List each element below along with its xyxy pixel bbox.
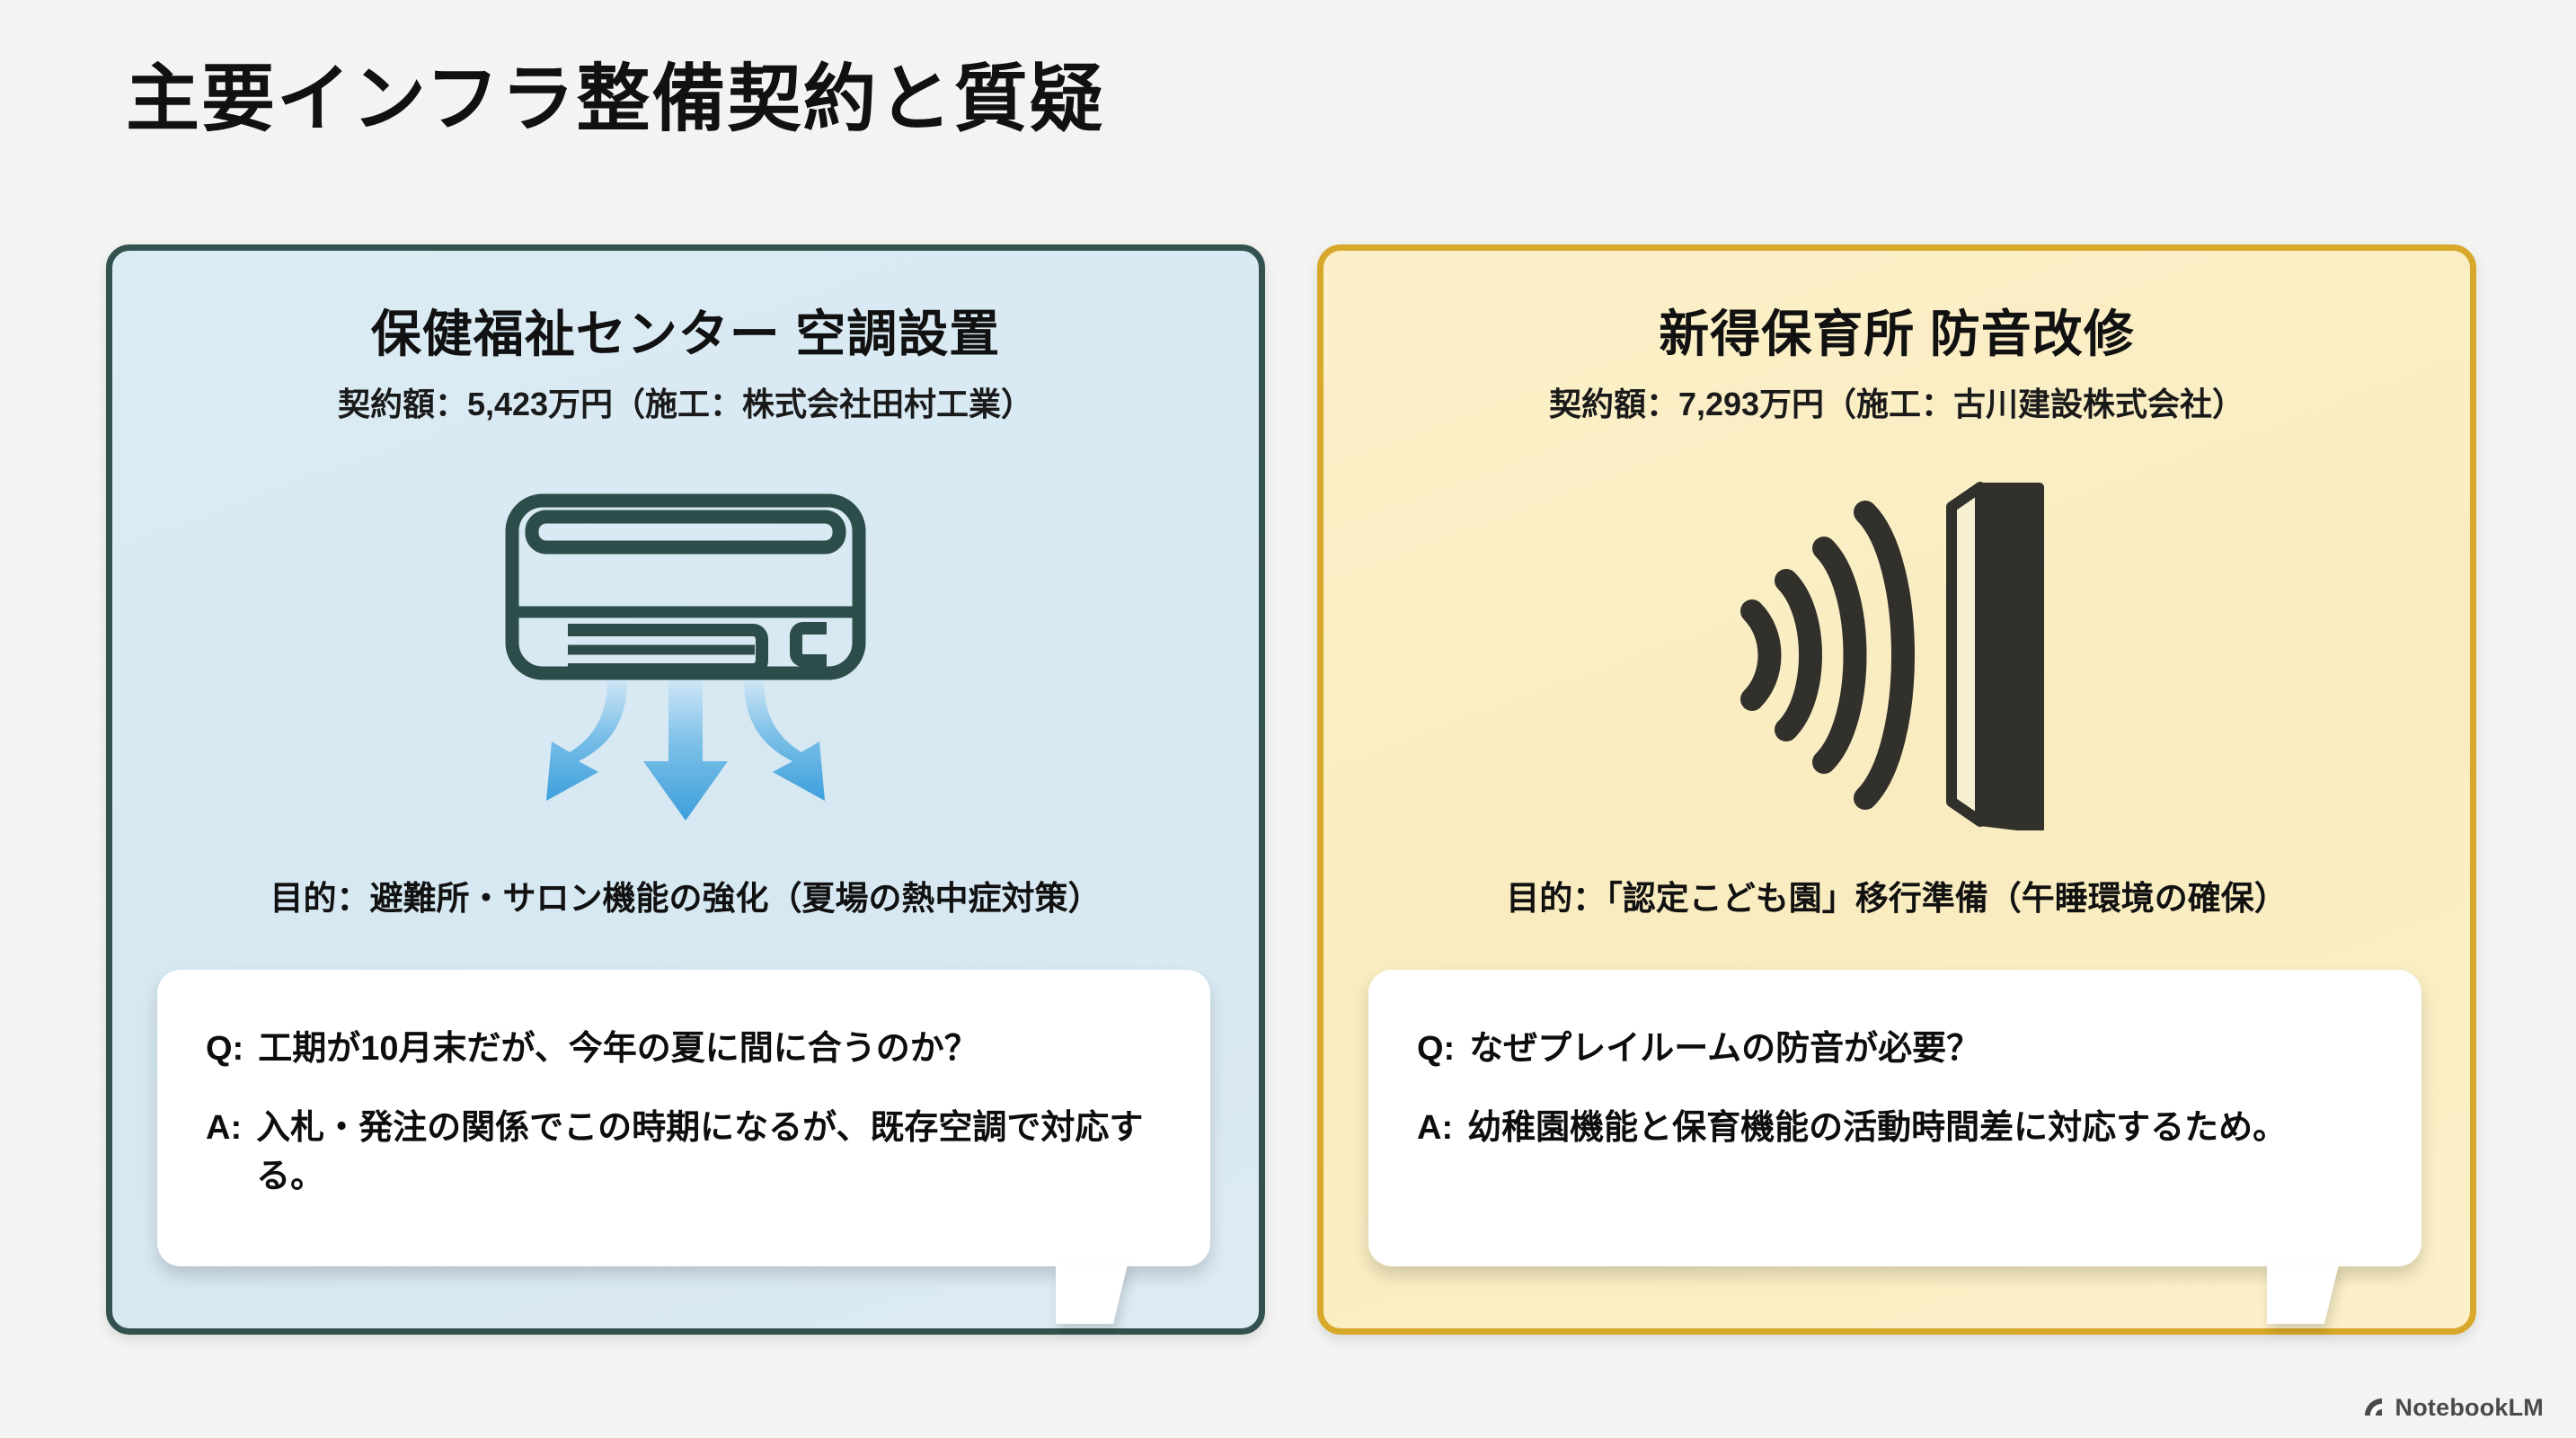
notebooklm-spiral-icon: [2361, 1395, 2388, 1422]
qa-speech-bubble: Q: 工期が10月末だが、今年の夏に間に合うのか？ A: 入札・発注の関係でこの…: [157, 970, 1210, 1266]
icon-area: [112, 466, 1259, 844]
qa-answer-row: A: 入札・発注の関係でこの時期になるが、既存空調で対応する。: [206, 1105, 1162, 1202]
speech-bubble-tail: [1056, 1265, 1128, 1324]
card-health-welfare-center-aircon: 保健福祉センター 空調設置 契約額：5,423万円（施工：株式会社田村工業）: [106, 244, 1265, 1335]
speech-bubble-tail: [2267, 1265, 2339, 1324]
qa-question-label: Q:: [1417, 1025, 1455, 1074]
card-subtitle-contract: 契約額：7,293万円（施工：古川建設株式会社）: [1323, 378, 2470, 425]
card-shintoku-nursery-soundproofing: 新得保育所 防音改修 契約額：7,293万円（施工：古川建設株式会社） 目的：「…: [1317, 244, 2476, 1335]
qa-question-text: 工期が10月末だが、今年の夏に間に合うのか？: [258, 1025, 1162, 1074]
icon-area: [1323, 466, 2470, 844]
card-purpose: 目的：「認定こども園」移行準備（午睡環境の確保）: [1323, 871, 2470, 919]
notebooklm-watermark: NotebookLM: [2361, 1394, 2544, 1422]
watermark-label: NotebookLM: [2395, 1394, 2544, 1422]
page-title: 主要インフラ整備契約と質疑: [126, 56, 1105, 144]
qa-answer-text: 入札・発注の関係でこの時期になるが、既存空調で対応する。: [256, 1105, 1162, 1202]
qa-answer-row: A: 幼稚園機能と保育機能の活動時間差に対応するため。: [1417, 1105, 2373, 1153]
qa-answer-label: A:: [1417, 1105, 1453, 1153]
air-conditioner-icon: [492, 475, 879, 835]
slide-canvas: 主要インフラ整備契約と質疑 保健福祉センター 空調設置 契約額：5,423万円（…: [0, 0, 2576, 1438]
qa-question-row: Q: なぜプレイルームの防音が必要？: [1417, 1025, 2373, 1074]
card-purpose: 目的：避難所・サロン機能の強化（夏場の熱中症対策）: [112, 871, 1259, 919]
card-title: 新得保育所 防音改修: [1323, 294, 2470, 367]
qa-question-row: Q: 工期が10月末だが、今年の夏に間に合うのか？: [206, 1025, 1162, 1074]
qa-question-label: Q:: [206, 1025, 243, 1074]
qa-answer-label: A:: [206, 1105, 242, 1153]
soundproofing-icon: [1731, 480, 2063, 830]
qa-speech-bubble: Q: なぜプレイルームの防音が必要？ A: 幼稚園機能と保育機能の活動時間差に対…: [1368, 970, 2421, 1266]
qa-answer-text: 幼稚園機能と保育機能の活動時間差に対応するため。: [1467, 1105, 2373, 1153]
qa-question-text: なぜプレイルームの防音が必要？: [1469, 1025, 2373, 1074]
card-title: 保健福祉センター 空調設置: [112, 294, 1259, 367]
card-subtitle-contract: 契約額：5,423万円（施工：株式会社田村工業）: [112, 378, 1259, 425]
